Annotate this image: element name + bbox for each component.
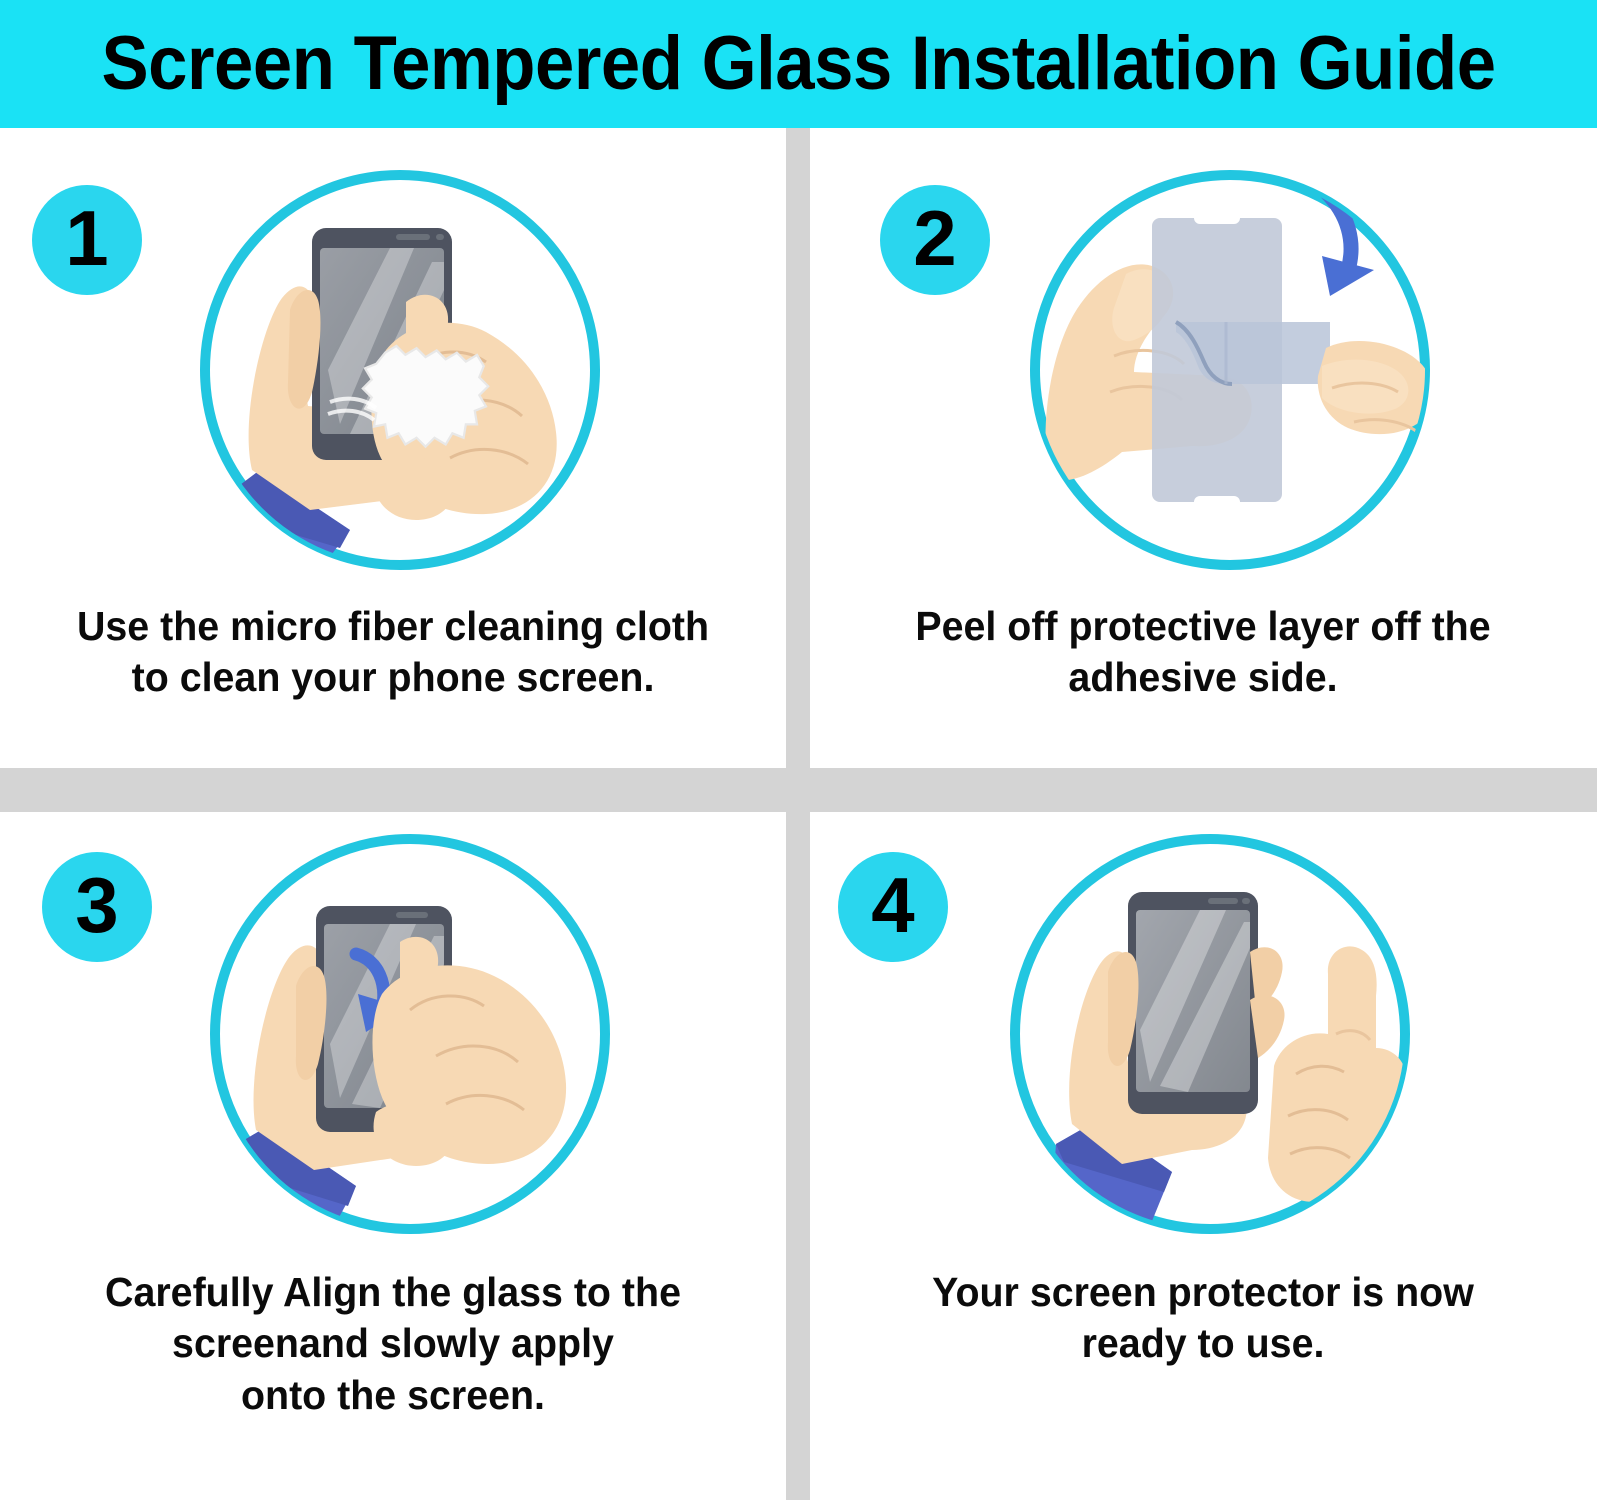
step-caption-1: Use the micro fiber cleaning cloth to cl… <box>16 601 771 704</box>
step-caption-2: Peel off protective layer off the adhesi… <box>826 601 1581 704</box>
step-badge-2: 2 <box>880 185 990 295</box>
hands-peeling-film-off-glass-icon <box>1030 170 1430 570</box>
step-panel-2: 2 <box>810 128 1596 768</box>
caption-line: to clean your phone screen. <box>16 652 771 703</box>
caption-line: onto the screen. <box>16 1370 771 1421</box>
page-title: Screen Tempered Glass Installation Guide <box>101 26 1495 102</box>
caption-line: adhesive side. <box>826 652 1581 703</box>
hand-aligning-glass-onto-screen-icon <box>210 834 610 1234</box>
step-illustration-3 <box>210 834 610 1234</box>
step-caption-4: Your screen protector is now ready to us… <box>826 1267 1581 1370</box>
step-number-2: 2 <box>913 199 956 277</box>
caption-line: Use the micro fiber cleaning cloth <box>16 601 771 652</box>
caption-line: Peel off protective layer off the <box>826 601 1581 652</box>
steps-grid: 1 <box>0 128 1597 1500</box>
caption-line: screenand slowly apply <box>16 1318 771 1369</box>
caption-line: ready to use. <box>826 1318 1581 1369</box>
step-badge-3: 3 <box>42 852 152 962</box>
step-illustration-4 <box>1010 834 1410 1234</box>
step-panel-3: 3 <box>0 812 786 1500</box>
step-illustration-2 <box>1030 170 1430 570</box>
horizontal-divider <box>0 768 1597 812</box>
vertical-divider <box>786 128 810 1500</box>
caption-line: Carefully Align the glass to the <box>16 1267 771 1318</box>
step-panel-1: 1 <box>0 128 786 768</box>
step-badge-4: 4 <box>838 852 948 962</box>
step-badge-1: 1 <box>32 185 142 295</box>
step-number-4: 4 <box>871 866 914 944</box>
hand-cleaning-phone-with-cloth-icon <box>200 170 600 570</box>
caption-line: Your screen protector is now <box>826 1267 1581 1318</box>
step-number-1: 1 <box>65 199 108 277</box>
hand-holding-phone-thumbs-up-icon <box>1010 834 1410 1234</box>
step-caption-3: Carefully Align the glass to the screena… <box>16 1267 771 1421</box>
step-panel-4: 4 <box>810 812 1596 1500</box>
step-number-3: 3 <box>75 866 118 944</box>
step-illustration-1 <box>200 170 600 570</box>
header-bar: Screen Tempered Glass Installation Guide <box>0 0 1597 128</box>
